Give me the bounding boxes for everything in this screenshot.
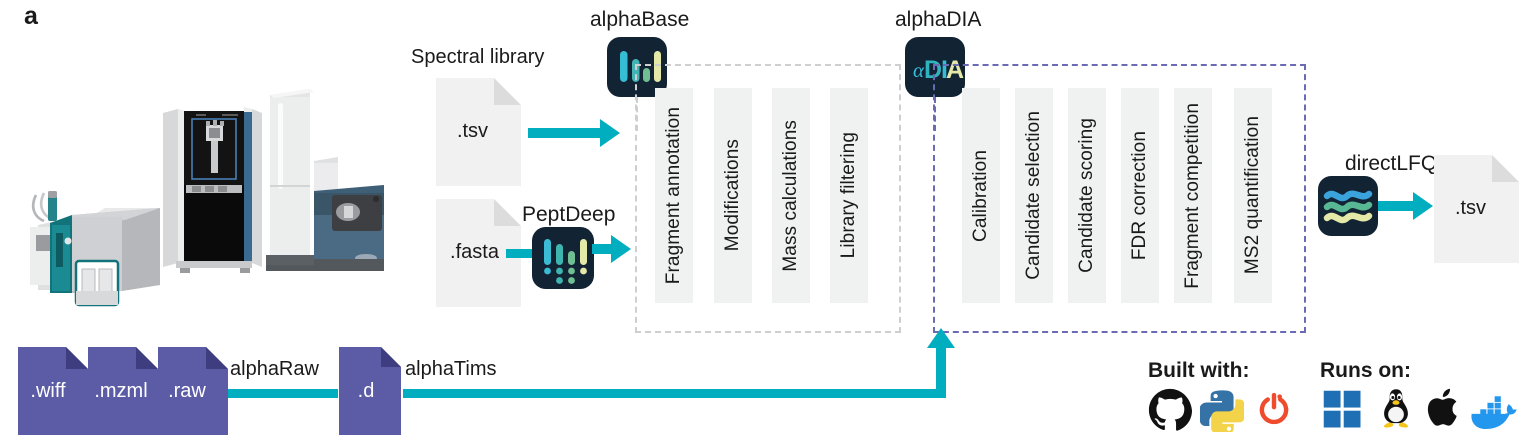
file-tsv-input: .tsv bbox=[436, 78, 521, 186]
file-d: .d bbox=[339, 347, 401, 435]
mass-spectrometer-illustrations bbox=[0, 45, 400, 335]
alpharaw-label: alphaRaw bbox=[230, 358, 319, 381]
instrument-left bbox=[30, 191, 160, 305]
file-fasta-input-label: .fasta bbox=[432, 241, 517, 264]
alphabase-step-3: Library filtering bbox=[830, 88, 868, 303]
spectral-library-label: Spectral library bbox=[411, 46, 544, 69]
alphabase-step-1: Modifications bbox=[714, 88, 752, 303]
alphadia-step-3-label: FDR correction bbox=[1129, 131, 1151, 260]
peptdeep-icon bbox=[532, 227, 594, 289]
runs-on-label: Runs on: bbox=[1320, 359, 1411, 383]
alphadia-step-3: FDR correction bbox=[1121, 88, 1159, 303]
built-with-label: Built with: bbox=[1148, 359, 1249, 383]
directlfq-icon bbox=[1318, 176, 1378, 236]
directlfq-label: directLFQ bbox=[1345, 152, 1437, 176]
alphadia-step-2-label: Candidate scoring bbox=[1076, 118, 1098, 273]
arrow-directlfq-to-output bbox=[1378, 201, 1416, 211]
pytorch-icon bbox=[1252, 387, 1296, 436]
raw-to-alphadia-arrowhead bbox=[927, 328, 955, 348]
alpharaw-line bbox=[228, 389, 338, 398]
alphadia-step-5-label: MS2 quantification bbox=[1242, 116, 1264, 274]
alphatims-label: alphaTims bbox=[405, 358, 497, 381]
alphadia-step-4-label: Fragment competition bbox=[1182, 103, 1204, 289]
alphadia-step-1-label: Candidate selection bbox=[1023, 111, 1045, 280]
file-wiff: .wiff bbox=[18, 347, 88, 435]
alphabase-step-2-label: Mass calculations bbox=[780, 120, 802, 272]
alphadia-title: alphaDIA bbox=[895, 8, 981, 32]
file-mzml-label: .mzml bbox=[86, 380, 156, 403]
instrument-center bbox=[163, 107, 262, 273]
instrument-right bbox=[266, 89, 384, 271]
apple-icon bbox=[1424, 385, 1466, 436]
alphatims-line bbox=[403, 389, 946, 398]
arrow-peptdeep-to-alphabase bbox=[592, 244, 614, 254]
alphabase-step-0-label: Fragment annotation bbox=[663, 107, 685, 284]
file-tsv-input-label: .tsv bbox=[430, 120, 515, 143]
raw-to-alphadia-riser bbox=[936, 347, 946, 394]
file-wiff-label: .wiff bbox=[13, 380, 83, 403]
alphabase-step-0: Fragment annotation bbox=[655, 88, 693, 303]
alphadia-step-1: Candidate selection bbox=[1015, 88, 1053, 303]
arrow-tsv-to-alphabase bbox=[528, 128, 603, 138]
docker-icon bbox=[1471, 390, 1519, 435]
file-raw-label: .raw bbox=[152, 380, 222, 403]
alphabase-title: alphaBase bbox=[590, 8, 689, 32]
github-icon bbox=[1148, 388, 1192, 437]
file-mzml: .mzml bbox=[88, 347, 158, 435]
alphabase-step-3-label: Library filtering bbox=[838, 132, 860, 258]
python-icon bbox=[1200, 388, 1244, 437]
peptdeep-label: PeptDeep bbox=[522, 203, 615, 227]
alphadia-step-4: Fragment competition bbox=[1174, 88, 1212, 303]
panel-label: a bbox=[24, 2, 37, 31]
linux-icon bbox=[1375, 387, 1417, 436]
alphadia-step-2: Candidate scoring bbox=[1068, 88, 1106, 303]
alphadia-step-0: Calibration bbox=[962, 88, 1000, 303]
file-d-label: .d bbox=[335, 380, 397, 403]
alphabase-step-1-label: Modifications bbox=[722, 139, 744, 251]
file-tsv-output-label: .tsv bbox=[1428, 197, 1513, 220]
alphadia-step-5: MS2 quantification bbox=[1234, 88, 1272, 303]
alphabase-step-2: Mass calculations bbox=[772, 88, 810, 303]
file-tsv-output: .tsv bbox=[1434, 155, 1519, 263]
file-raw: .raw bbox=[158, 347, 228, 435]
windows-icon bbox=[1322, 389, 1364, 436]
alphadia-step-0-label: Calibration bbox=[970, 150, 992, 242]
